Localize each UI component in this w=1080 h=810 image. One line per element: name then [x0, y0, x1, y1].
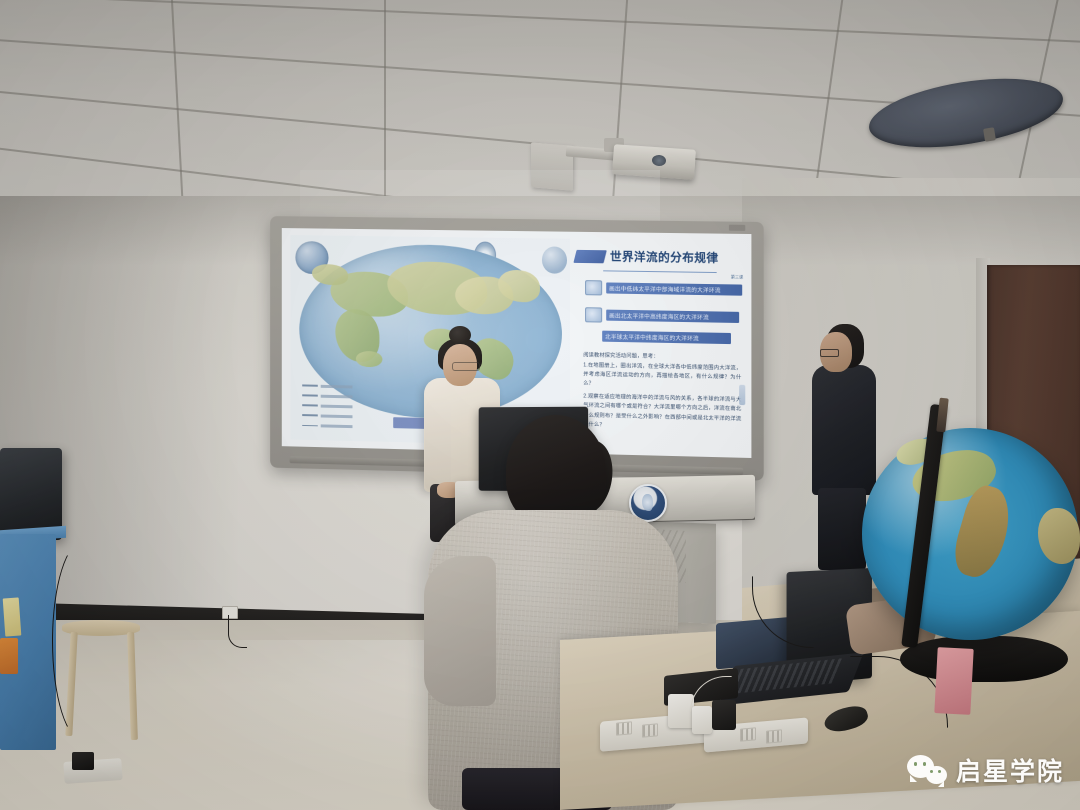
teacher-arm — [425, 398, 451, 490]
power-strip-socket[interactable] — [642, 723, 658, 737]
person-right-legs — [818, 488, 866, 570]
cart-paper — [3, 597, 22, 636]
power-strip-socket[interactable] — [616, 721, 632, 735]
slide-title: 世界洋流的分布规律 — [610, 249, 719, 267]
wechat-icon — [907, 755, 947, 785]
power-strip-socket[interactable] — [740, 727, 756, 741]
watermark-text: 启星学院 — [956, 752, 1064, 788]
slide-title-sub: 第三课 — [731, 274, 743, 280]
cart-cable — [52, 540, 116, 742]
map-legend — [302, 383, 374, 430]
globe-base — [900, 636, 1068, 682]
slide-bullet-1: 画出中低纬太平洋中部海域洋流的大洋环流 — [585, 280, 743, 298]
slide-bullet-1-label: 画出中低纬太平洋中部海域洋流的大洋环流 — [609, 284, 721, 294]
person-right-glasses-icon — [820, 349, 839, 357]
cart-orange-item — [0, 638, 18, 674]
slide-paragraph-1: 1.在地图册上，圈出洋流，在全球大洋各中低纬度范围内大洋流，并考虑海区洋流运动的… — [583, 362, 741, 393]
outlet-cord — [228, 615, 247, 648]
seated-person-shoulder — [424, 556, 496, 706]
classroom-photo: 洋流 世界洋流的分布规律 第三课 画出中低纬太平洋中部海域洋流的大洋环流 — [0, 0, 1080, 810]
inset-globe-icon-2 — [542, 246, 567, 273]
slide-text-column: 世界洋流的分布规律 第三课 画出中低纬太平洋中部海域洋流的大洋环流 画出北太平洋 — [575, 238, 747, 451]
wave-icon — [585, 307, 602, 322]
ceiling-speaker-stem — [983, 127, 996, 142]
slide-side-badge-icon — [739, 384, 745, 404]
slide-bullet-3-label: 北半球太平洋中纬度海区的大洋环流 — [605, 332, 699, 342]
watermark: 启星学院 — [907, 752, 1064, 788]
slide-bullet-3: 北半球太平洋中纬度海区的大洋环流 — [602, 331, 751, 345]
compass-icon — [585, 280, 602, 295]
slide-title-row: 世界洋流的分布规律 — [575, 243, 747, 273]
whiteboard-brand-logo — [729, 225, 745, 231]
teacher-glasses-icon — [452, 362, 480, 371]
power-strip-socket[interactable] — [766, 729, 782, 743]
person-right-torso — [812, 365, 876, 495]
slide-bullet-2: 画出北太平洋中高纬度海区的大洋环流 — [585, 307, 743, 325]
title-chip-icon — [573, 250, 606, 263]
slide-paragraph-2: 2.观察在适应地理的海洋中的洋流与风的关系，各半球的洋流与大气环流之间有哪个或是… — [583, 393, 741, 433]
slide-bullet-2-label: 画出北太平洋中高纬度海区的大洋环流 — [609, 311, 709, 321]
teacher-hair-bun — [449, 326, 471, 344]
floor-plug — [72, 752, 94, 770]
pink-card-near-globe — [934, 647, 973, 715]
